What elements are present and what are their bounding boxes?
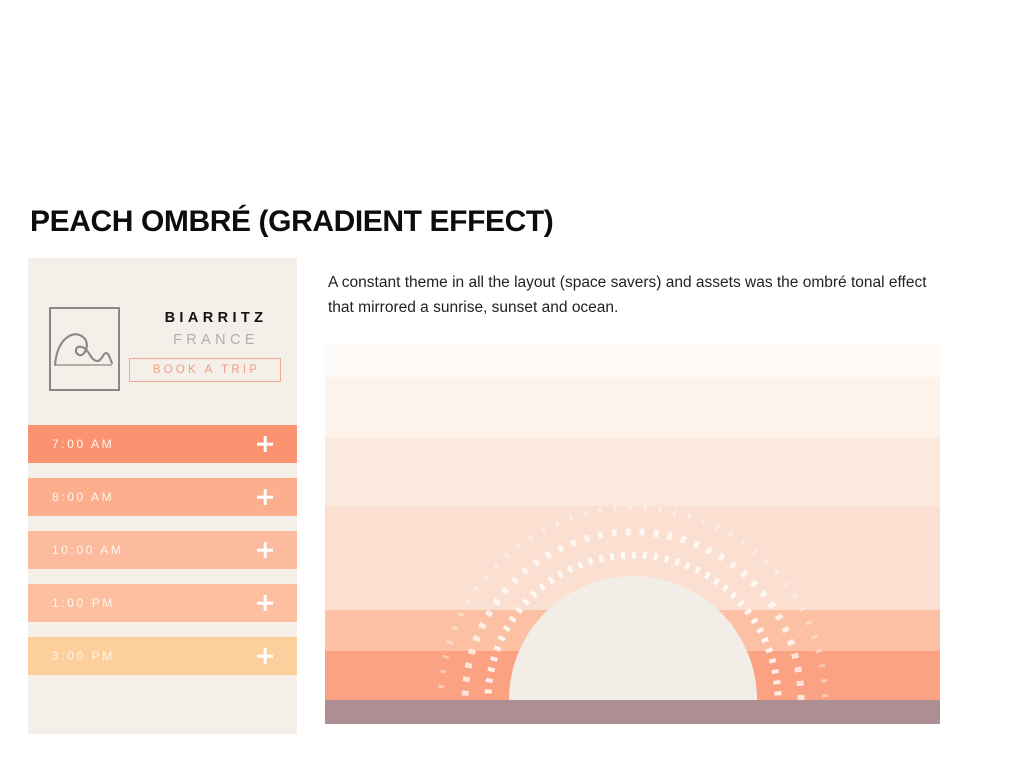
time-slot-row[interactable]: 3:00 PM xyxy=(28,637,297,675)
plus-icon[interactable] xyxy=(257,489,273,505)
time-slot-label: 8:00 AM xyxy=(52,490,114,504)
time-slot-row[interactable]: 10:00 AM xyxy=(28,531,297,569)
time-slot-row[interactable]: 7:00 AM xyxy=(28,425,297,463)
time-slot-label: 1:00 PM xyxy=(52,596,115,610)
card-header: BIARRITZ FRANCE BOOK A TRIP xyxy=(28,258,297,425)
description-text: A constant theme in all the layout (spac… xyxy=(328,270,928,320)
time-slot-label: 3:00 PM xyxy=(52,649,115,663)
time-slot-row[interactable]: 1:00 PM xyxy=(28,584,297,622)
book-a-trip-button[interactable]: BOOK A TRIP xyxy=(129,358,281,382)
ocean-band xyxy=(325,700,940,724)
time-slot-list: 7:00 AM 8:00 AM 10:00 AM 1:00 PM 3:00 PM xyxy=(28,425,297,690)
plus-icon[interactable] xyxy=(257,648,273,664)
plus-icon[interactable] xyxy=(257,436,273,452)
time-slot-label: 7:00 AM xyxy=(52,437,114,451)
plus-icon[interactable] xyxy=(257,595,273,611)
page-title: PEACH OMBRÉ (GRADIENT EFFECT) xyxy=(30,205,553,239)
plus-icon[interactable] xyxy=(257,542,273,558)
time-slot-row[interactable]: 8:00 AM xyxy=(28,478,297,516)
sunset-ombre-illustration xyxy=(325,343,940,724)
time-slot-label: 10:00 AM xyxy=(52,543,124,557)
brand-name: BIARRITZ xyxy=(149,310,283,326)
brand-subtitle: FRANCE xyxy=(149,332,283,348)
wave-icon xyxy=(49,307,120,391)
app-mockup-card: BIARRITZ FRANCE BOOK A TRIP 7:00 AM 8:00… xyxy=(28,258,297,734)
